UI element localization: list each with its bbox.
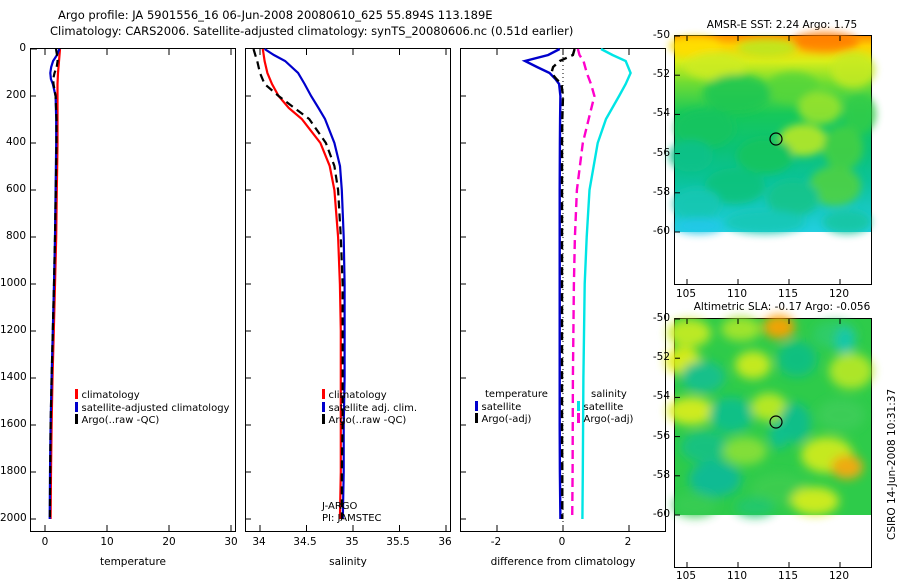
map-x-tick: 110 bbox=[723, 570, 751, 582]
difference-curves bbox=[461, 49, 665, 531]
salinity-profile-plot: climatology satellite adj. clim. Argo(..… bbox=[245, 48, 451, 532]
y-tick: 1400 bbox=[0, 371, 26, 383]
temperature-ticks-inner bbox=[31, 49, 231, 531]
x-axis-label-salinity: salinity bbox=[245, 556, 451, 568]
map-y-tick: -58 bbox=[642, 186, 670, 198]
x-tick: 34.5 bbox=[290, 536, 320, 548]
x-tick: 35 bbox=[343, 536, 361, 548]
map-x-tick: 120 bbox=[825, 570, 853, 582]
legend-label: Argo(-adj) bbox=[482, 414, 532, 425]
legend-item: Argo(-adj) bbox=[577, 413, 633, 426]
legend-swatch-satellite bbox=[75, 402, 78, 412]
difference-legend-temperature: temperature satellite Argo(-adj) bbox=[475, 389, 548, 426]
salinity-legend: climatology satellite adj. clim. Argo(..… bbox=[322, 389, 417, 427]
x-axis-label-temperature: temperature bbox=[30, 556, 236, 568]
x-tick: 30 bbox=[222, 536, 240, 548]
legend-item: climatology bbox=[75, 389, 229, 402]
legend-label: satellite bbox=[584, 402, 624, 413]
sla-map-plot bbox=[674, 318, 872, 568]
legend-label: Argo(-adj) bbox=[584, 414, 634, 425]
x-tick: 35.5 bbox=[383, 536, 413, 548]
map-y-tick: -60 bbox=[642, 225, 670, 237]
legend-label: Argo(..raw -QC) bbox=[329, 415, 407, 426]
y-tick: 1200 bbox=[0, 324, 26, 336]
y-tick: 1600 bbox=[0, 418, 26, 430]
legend-label: satellite bbox=[482, 402, 522, 413]
x-tick: 0 bbox=[553, 536, 571, 548]
legend-item: satellite bbox=[577, 401, 633, 414]
y-tick: 2000 bbox=[0, 512, 26, 524]
x-tick: 34 bbox=[250, 536, 268, 548]
legend-item: satellite adj. clim. bbox=[322, 402, 417, 415]
x-tick: 10 bbox=[98, 536, 116, 548]
y-tick: 1000 bbox=[0, 277, 26, 289]
salinity-ticks-inner bbox=[246, 49, 446, 531]
legend-item: Argo(..raw -QC) bbox=[75, 414, 229, 427]
legend-label: Argo(..raw -QC) bbox=[82, 415, 160, 426]
x-tick: 20 bbox=[160, 536, 178, 548]
salinity-argo-curve bbox=[254, 49, 343, 519]
map-y-tick: -54 bbox=[642, 107, 670, 119]
salinity-curves bbox=[246, 49, 450, 531]
difference-temp-satellite-curve bbox=[525, 49, 560, 519]
temperature-curves bbox=[31, 49, 235, 531]
sst-map-field bbox=[675, 36, 871, 284]
legend-heading-temperature: temperature bbox=[475, 389, 548, 401]
legend-item: satellite bbox=[475, 401, 548, 414]
sla-map-field bbox=[675, 319, 871, 567]
x-tick: 2 bbox=[619, 536, 637, 548]
temperature-argo-curve bbox=[50, 49, 58, 519]
difference-profile-plot: temperature satellite Argo(-adj) salinit… bbox=[460, 48, 666, 532]
csiro-timestamp: CSIRO 14-Jun-2008 10:31:37 bbox=[886, 389, 898, 540]
legend-swatch-sal-satellite bbox=[577, 401, 580, 411]
map-x-tick: 120 bbox=[825, 288, 853, 300]
temperature-legend: climatology satellite-adjusted climatolo… bbox=[75, 389, 229, 427]
legend-swatch-argo bbox=[322, 414, 325, 424]
difference-ticks-inner bbox=[461, 49, 629, 531]
legend-label: satellite-adjusted climatology bbox=[82, 403, 230, 414]
legend-swatch-sal-argo bbox=[577, 413, 580, 423]
salinity-climatology-curve bbox=[263, 49, 341, 519]
legend-swatch-satellite bbox=[475, 401, 478, 411]
map-x-tick: 105 bbox=[672, 570, 700, 582]
map-y-tick: -52 bbox=[642, 68, 670, 80]
map-y-tick: -50 bbox=[642, 29, 670, 41]
legend-item: Argo(..raw -QC) bbox=[322, 414, 417, 427]
legend-label: climatology bbox=[82, 390, 140, 401]
y-tick: 0 bbox=[0, 42, 26, 54]
page-title-line1: Argo profile: JA 5901556_16 06-Jun-2008 … bbox=[58, 8, 493, 22]
map-x-tick: 110 bbox=[723, 288, 751, 300]
legend-swatch-climatology bbox=[75, 389, 78, 399]
salinity-annotations: J-ARGO PI: JAMSTEC bbox=[322, 501, 382, 524]
y-tick: 600 bbox=[0, 183, 26, 195]
sla-map-title: Altimetric SLA: -0.17 Argo: -0.056 bbox=[672, 301, 892, 313]
y-tick: 200 bbox=[0, 89, 26, 101]
annotation-j-argo: J-ARGO bbox=[322, 501, 382, 513]
map-x-tick: 115 bbox=[774, 570, 802, 582]
x-tick: 36 bbox=[436, 536, 454, 548]
legend-heading-salinity: salinity bbox=[577, 389, 633, 401]
legend-item: Argo(-adj) bbox=[475, 413, 548, 426]
page-title-line2: Climatology: CARS2006. Satellite-adjuste… bbox=[50, 24, 573, 38]
x-axis-label-difference: difference from climatology bbox=[460, 556, 666, 568]
map-x-tick: 105 bbox=[672, 288, 700, 300]
legend-swatch-satellite bbox=[322, 402, 325, 412]
map-y-tick: -56 bbox=[642, 430, 670, 442]
map-x-tick: 115 bbox=[774, 288, 802, 300]
legend-swatch-argo bbox=[75, 414, 78, 424]
legend-item: climatology bbox=[322, 389, 417, 402]
annotation-pi: PI: JAMSTEC bbox=[322, 513, 382, 525]
legend-swatch-climatology bbox=[322, 389, 325, 399]
difference-temp-argo-curve bbox=[551, 49, 574, 519]
map-y-tick: -50 bbox=[642, 312, 670, 324]
y-tick: 1800 bbox=[0, 465, 26, 477]
x-tick: -2 bbox=[487, 536, 505, 548]
map-y-tick: -52 bbox=[642, 351, 670, 363]
y-tick: 400 bbox=[0, 136, 26, 148]
temperature-profile-plot: climatology satellite-adjusted climatolo… bbox=[30, 48, 236, 532]
salinity-satellite-curve bbox=[265, 49, 345, 519]
map-y-tick: -56 bbox=[642, 147, 670, 159]
difference-legend-salinity: salinity satellite Argo(-adj) bbox=[577, 389, 633, 426]
legend-item: satellite-adjusted climatology bbox=[75, 402, 229, 415]
legend-swatch-argo bbox=[475, 413, 478, 423]
legend-label: climatology bbox=[329, 390, 387, 401]
sst-map-title: AMSR-E SST: 2.24 Argo: 1.75 bbox=[672, 19, 892, 31]
map-y-tick: -58 bbox=[642, 469, 670, 481]
x-tick: 0 bbox=[36, 536, 54, 548]
map-y-tick: -60 bbox=[642, 508, 670, 520]
map-y-tick: -54 bbox=[642, 390, 670, 402]
sst-map-plot bbox=[674, 35, 872, 285]
legend-label: satellite adj. clim. bbox=[329, 403, 418, 414]
y-tick: 800 bbox=[0, 230, 26, 242]
